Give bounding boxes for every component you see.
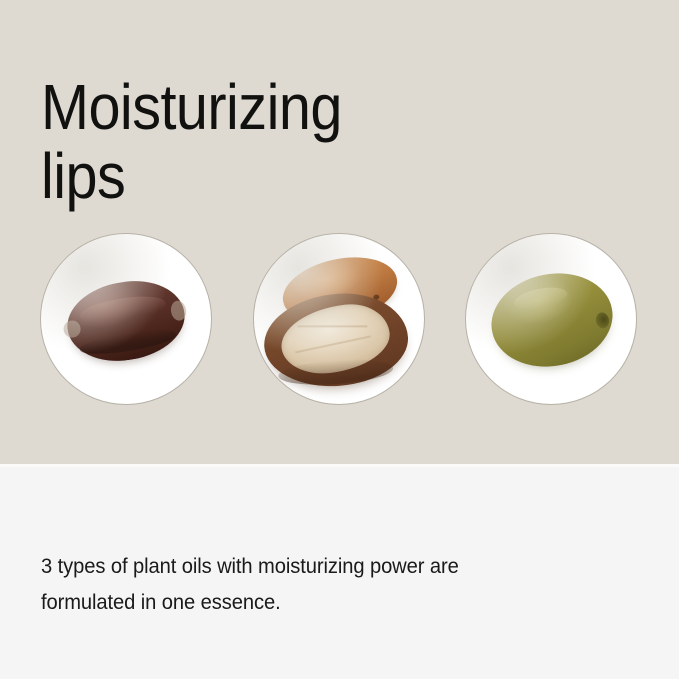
olive-stem-scar [595, 311, 611, 329]
green-olive-photo [483, 263, 620, 377]
jojoba-highlight [78, 291, 168, 328]
ingredient-circle-jojoba [40, 233, 212, 405]
jojoba-seed-photo [62, 273, 191, 368]
ingredient-circle-olive [465, 233, 637, 405]
jojoba-tip-left [63, 319, 82, 339]
jojoba-tip-right [170, 299, 188, 321]
product-feature-banner: Moisturizing lips [0, 0, 679, 679]
argan-kernel-vein-2 [296, 335, 371, 353]
argan-kernel-vein-1 [297, 325, 367, 327]
hero-panel: Moisturizing lips [0, 0, 679, 464]
olive-highlight [512, 284, 569, 314]
jojoba-seam [79, 326, 177, 358]
ingredient-circles-row [0, 233, 679, 406]
ingredient-circle-argan [253, 233, 425, 405]
section-divider [0, 464, 679, 467]
caption-text: 3 types of plant oils with moisturizing … [41, 549, 617, 620]
page-title: Moisturizing lips [41, 73, 545, 211]
